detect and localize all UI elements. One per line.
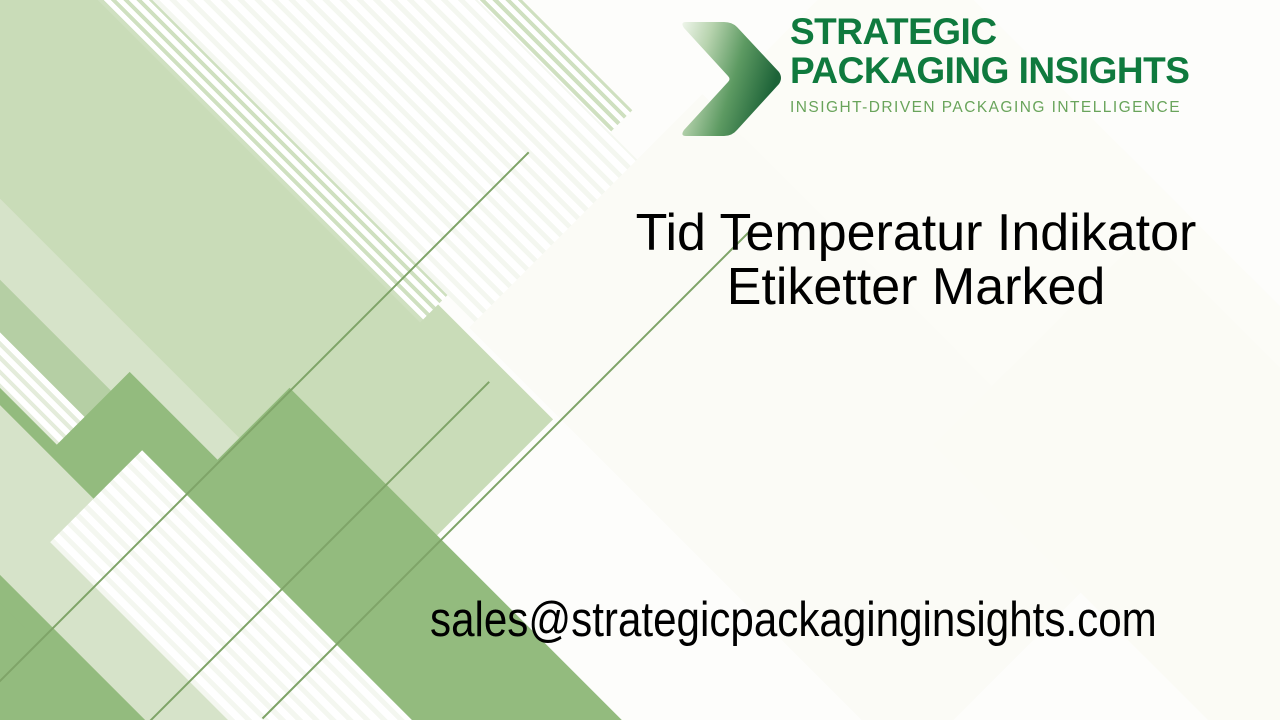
decor-stripes-2 [0, 197, 253, 720]
decor-band-light-1 [0, 0, 553, 586]
decor-band-strong-2 [0, 372, 526, 720]
decor-band-strong-1 [0, 310, 290, 720]
decor-hairline-3 [50, 381, 490, 720]
decor-band-pale-2 [0, 0, 504, 614]
page-title: Tid Temperatur Indikator Etiketter Marke… [560, 206, 1272, 314]
contact-email[interactable]: sales@strategicpackaginginsights.com [430, 592, 1157, 648]
title-slide: STRATEGIC PACKAGING INSIGHTS INSIGHT-DRI… [0, 0, 1280, 720]
decor-band-light-2 [0, 340, 330, 720]
logo-tagline: INSIGHT-DRIVEN PACKAGING INTELLIGENCE [790, 99, 1194, 117]
decor-stripes-4 [36, 0, 694, 379]
logo-line-1: STRATEGIC [790, 12, 1194, 51]
decor-band-strong-3 [113, 388, 657, 720]
decor-stripes-3 [0, 72, 193, 687]
decor-stripes-1 [0, 0, 632, 322]
logo-line-2: PACKAGING INSIGHTS [790, 51, 1194, 90]
decor-band-pale-1 [0, 0, 427, 652]
company-logo: STRATEGIC PACKAGING INSIGHTS INSIGHT-DRI… [676, 12, 1196, 140]
chevron-mark-icon [676, 16, 784, 140]
decor-band-mid-1 [0, 0, 352, 597]
decor-stripes-5 [50, 450, 510, 720]
logo-wordmark: STRATEGIC PACKAGING INSIGHTS INSIGHT-DRI… [790, 12, 1194, 117]
